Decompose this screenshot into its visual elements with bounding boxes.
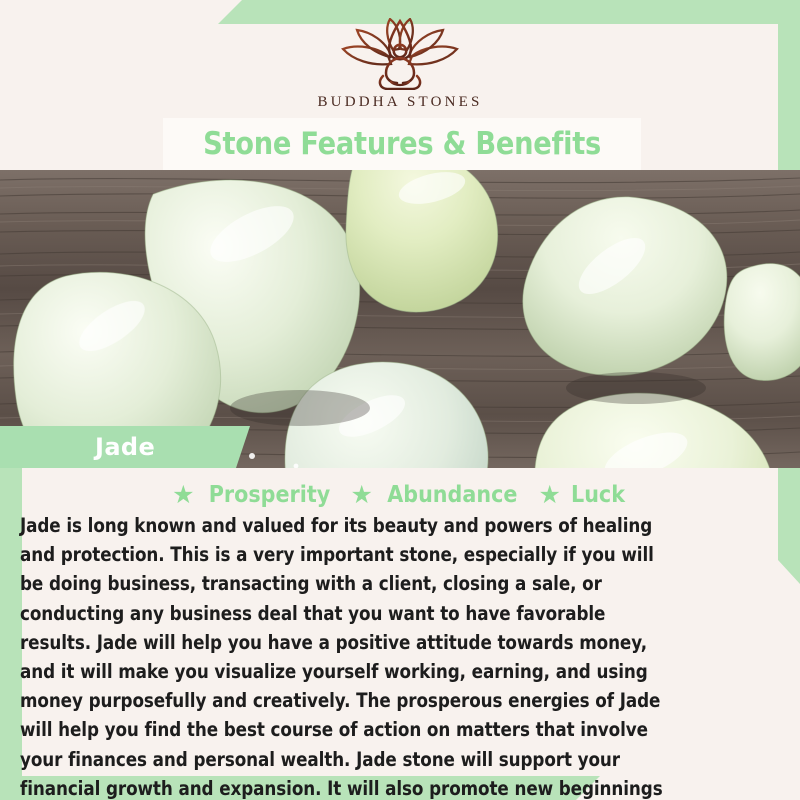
stone-description: Jade is long known and valued for its be… [20,511,679,800]
brand-name: BUDDHA STONES [317,94,482,111]
lotus-meditation-icon [335,18,465,90]
stone-name-label: Jade [95,433,155,461]
brand-logo: BUDDHA STONES [0,18,800,111]
benefits-row: ★ Prosperity ★ Abundance ★ Luck [0,478,800,512]
benefit-label-abundance: Abundance [387,482,517,508]
star-icon: ★ [539,483,561,508]
benefit-label-luck: Luck [571,482,625,508]
page-title: Stone Features & Benefits [203,126,601,162]
benefit-label-prosperity: Prosperity [208,482,329,508]
benefit-item: ★ Luck [539,482,628,508]
benefit-item: ★ Abundance [350,482,524,508]
stone-name-band: Jade [0,426,250,468]
infographic-page: BUDDHA STONES [0,0,800,800]
title-banner: Stone Features & Benefits [163,118,641,170]
stone-photo [0,170,800,468]
star-icon: ★ [350,483,372,508]
benefit-item: ★ Prosperity [172,482,336,508]
star-icon: ★ [172,483,194,508]
stone-photo-image [0,170,800,468]
